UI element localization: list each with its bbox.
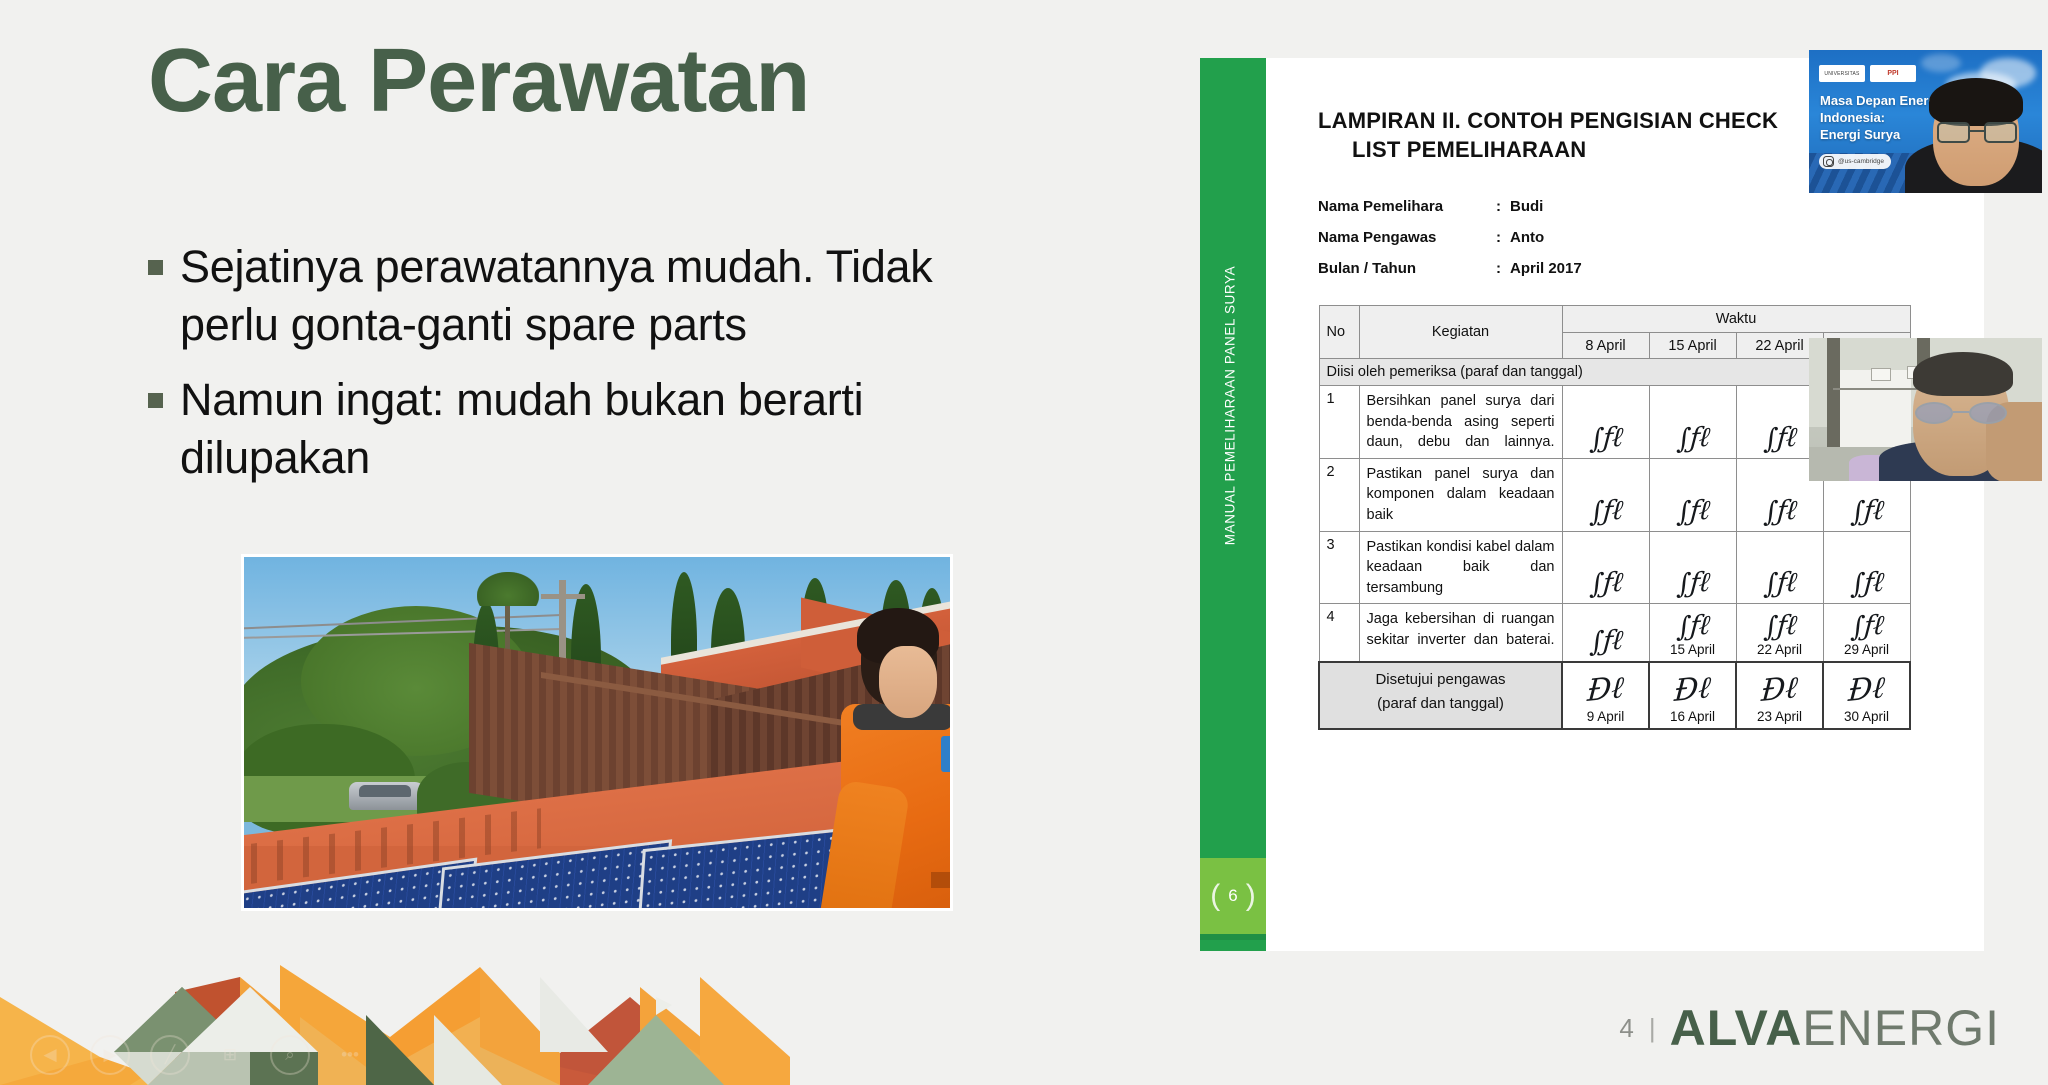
- webcam-background-title: Masa Depan Energi Indonesia: Energi Sury…: [1820, 92, 1940, 143]
- header-waktu: Waktu: [1562, 306, 1910, 333]
- webcam-tile-presenter-1[interactable]: UNIVERSITAS PPI Masa Depan Energi Indone…: [1809, 50, 2042, 193]
- signature-cell: ∫ƒℓ: [1649, 386, 1736, 459]
- solar-panel-cleaning-photo: [241, 554, 953, 911]
- approval-signature-cell: Đℓ 23 April: [1736, 662, 1823, 729]
- slide-title: Cara Perawatan: [148, 30, 809, 134]
- metadata-value: Anto: [1510, 229, 1544, 246]
- signature-mark: ∫ƒℓ: [1569, 422, 1643, 454]
- approval-date: 9 April: [1570, 709, 1641, 724]
- bg-title-line1: Masa Depan Energi: [1820, 92, 1940, 109]
- approval-date: 23 April: [1744, 709, 1815, 724]
- university-logo: UNIVERSITAS: [1819, 65, 1865, 82]
- table-header-row: No Kegiatan Waktu: [1319, 306, 1910, 333]
- row-no: 4: [1319, 604, 1359, 663]
- bracket-right: ): [1246, 879, 1256, 913]
- document-side-label: MANUAL PEMELIHARAAN PANEL SURYA: [1223, 226, 1238, 586]
- signature-mark: ∫ƒℓ: [1656, 568, 1730, 600]
- signature-mark: ∫ƒℓ: [1569, 495, 1643, 527]
- signature-mark: ∫ƒℓ: [1830, 611, 1904, 643]
- instagram-handle-text: @us-cambridge: [1838, 158, 1884, 165]
- glasses-lens-left: [1937, 122, 1970, 143]
- metadata-row: Nama Pengawas : Anto: [1318, 229, 1944, 246]
- document-page-badge: ( 6 ): [1200, 858, 1266, 934]
- all-slides-icon[interactable]: ⊞: [210, 1035, 250, 1075]
- approval-label-line2: (paraf dan tanggal): [1377, 695, 1504, 712]
- document-green-sidebar: MANUAL PEMELIHARAAN PANEL SURYA ( 6 ): [1200, 58, 1266, 951]
- row-kegiatan: Pastikan panel surya dan komponen dalam …: [1359, 458, 1562, 531]
- signature-date: 15 April: [1657, 642, 1729, 657]
- header-date-1: 8 April: [1562, 333, 1649, 359]
- approval-signature-mark: Đℓ: [1830, 668, 1903, 711]
- approval-signature-mark: Đℓ: [1569, 668, 1642, 711]
- brand-name-secondary: ENERGI: [1802, 1000, 2000, 1056]
- row-no: 2: [1319, 458, 1359, 531]
- previous-slide-icon[interactable]: ◀: [30, 1035, 70, 1075]
- approval-label-line1: Disetujui pengawas: [1375, 671, 1505, 688]
- signature-cell: ∫ƒℓ: [1649, 531, 1736, 604]
- approval-date: 30 April: [1831, 709, 1902, 724]
- bullet-square-icon: [148, 260, 163, 275]
- metadata-colon: :: [1496, 260, 1510, 277]
- signature-cell: ∫ƒℓ: [1823, 531, 1910, 604]
- metadata-label: Nama Pengawas: [1318, 229, 1496, 246]
- footer-decoration: ◀ ▶ ╱ ⊞ ⌕ •••: [0, 957, 1060, 1085]
- metadata-row: Nama Pemelihara : Budi: [1318, 198, 1944, 215]
- signature-cell: ∫ƒℓ 15 April: [1649, 604, 1736, 663]
- row-no: 1: [1319, 386, 1359, 459]
- footer-branding: 4 | ALVAENERGI: [1619, 999, 2000, 1057]
- signature-date: 22 April: [1744, 642, 1816, 657]
- metadata-label: Nama Pemelihara: [1318, 198, 1496, 215]
- header-date-2: 15 April: [1649, 333, 1736, 359]
- row-kegiatan: Pastikan kondisi kabel dalam keadaan bai…: [1359, 531, 1562, 604]
- brand-logo: ALVAENERGI: [1670, 999, 2000, 1057]
- ppi-logo: PPI: [1870, 65, 1916, 82]
- metadata-row: Bulan / Tahun : April 2017: [1318, 260, 1944, 277]
- table-row: 3 Pastikan kondisi kabel dalam keadaan b…: [1319, 531, 1910, 604]
- approval-signature-mark: Đℓ: [1656, 668, 1729, 711]
- approval-signature-mark: Đℓ: [1743, 668, 1816, 711]
- approval-label: Disetujui pengawas (paraf dan tanggal): [1319, 662, 1562, 729]
- document-page-number: 6: [1228, 886, 1237, 906]
- signature-cell: ∫ƒℓ: [1562, 604, 1649, 663]
- table-row: 4 Jaga kebersihan di ruangan sekitar inv…: [1319, 604, 1910, 663]
- logo-row: UNIVERSITAS PPI: [1819, 65, 1916, 82]
- bg-title-line3: Energi Surya: [1820, 126, 1940, 143]
- bullet-item: Namun ingat: mudah bukan berarti dilupak…: [148, 371, 938, 486]
- instagram-handle: @us-cambridge: [1819, 154, 1891, 169]
- next-slide-icon[interactable]: ▶: [90, 1035, 130, 1075]
- curtain-rail: [1833, 388, 1929, 390]
- metadata-colon: :: [1496, 229, 1510, 246]
- presenter-hair: [1929, 78, 2023, 126]
- more-options-icon[interactable]: •••: [330, 1035, 370, 1075]
- approval-signature-cell: Đℓ 16 April: [1649, 662, 1736, 729]
- bullet-item: Sejatinya perawatannya mudah. Tidak perl…: [148, 238, 938, 353]
- signature-mark: ∫ƒℓ: [1743, 568, 1817, 600]
- header-kegiatan: Kegiatan: [1359, 306, 1562, 359]
- presentation-slide: Cara Perawatan Sejatinya perawatannya mu…: [0, 0, 2048, 1085]
- signature-cell: ∫ƒℓ 29 April: [1823, 604, 1910, 663]
- cloud-decor: [1921, 54, 1961, 72]
- signature-cell: ∫ƒℓ 22 April: [1736, 604, 1823, 663]
- signature-cell: ∫ƒℓ: [1649, 458, 1736, 531]
- zoom-tool-icon[interactable]: ⌕: [270, 1035, 310, 1075]
- presenter-glasses: [1915, 402, 2007, 424]
- glasses-lens-left: [1915, 402, 1953, 424]
- signature-mark: ∫ƒℓ: [1743, 422, 1817, 454]
- signature-cell: ∫ƒℓ: [1562, 531, 1649, 604]
- document-metadata: Nama Pemelihara : Budi Nama Pengawas : A…: [1318, 198, 1944, 277]
- slideshow-controls[interactable]: ◀ ▶ ╱ ⊞ ⌕ •••: [30, 1035, 370, 1075]
- wall-vent: [1871, 368, 1891, 381]
- signature-mark: ∫ƒℓ: [1656, 495, 1730, 527]
- bullet-text: Namun ingat: mudah bukan berarti dilupak…: [180, 371, 938, 486]
- signature-mark: ∫ƒℓ: [1830, 568, 1904, 600]
- glasses-bridge: [1953, 411, 1969, 413]
- bg-title-line2: Indonesia:: [1820, 109, 1940, 126]
- pen-tool-icon[interactable]: ╱: [150, 1035, 190, 1075]
- bullet-list: Sejatinya perawatannya mudah. Tidak perl…: [148, 238, 938, 504]
- slide-page-number: 4: [1619, 1013, 1634, 1044]
- metadata-value: Budi: [1510, 198, 1543, 215]
- instagram-icon: [1823, 156, 1834, 167]
- bullet-square-icon: [148, 393, 163, 408]
- signature-cell: ∫ƒℓ: [1562, 386, 1649, 459]
- signature-mark: ∫ƒℓ: [1743, 495, 1817, 527]
- approval-row: Disetujui pengawas (paraf dan tanggal) Đ…: [1319, 662, 1910, 729]
- glasses-lens-right: [1969, 402, 2007, 424]
- signature-mark: ∫ƒℓ: [1830, 495, 1904, 527]
- metadata-colon: :: [1496, 198, 1510, 215]
- glasses-lens-right: [1984, 122, 2017, 143]
- metadata-value: April 2017: [1510, 260, 1582, 277]
- badge-underline: [1200, 934, 1266, 940]
- row-kegiatan: Jaga kebersihan di ruangan sekitar inver…: [1359, 604, 1562, 663]
- signature-mark: ∫ƒℓ: [1656, 611, 1730, 643]
- signature-mark: ∫ƒℓ: [1656, 422, 1730, 454]
- signature-cell: ∫ƒℓ: [1736, 531, 1823, 604]
- presenter-glasses: [1937, 122, 2017, 143]
- approval-signature-cell: Đℓ 30 April: [1823, 662, 1910, 729]
- signature-mark: ∫ƒℓ: [1569, 626, 1643, 658]
- brand-separator: |: [1649, 1013, 1656, 1044]
- webcam-tile-presenter-2[interactable]: [1809, 338, 2042, 481]
- signature-mark: ∫ƒℓ: [1569, 568, 1643, 600]
- approval-signature-cell: Đℓ 9 April: [1562, 662, 1649, 729]
- document-title-line1: LAMPIRAN II. CONTOH PENGISIAN CHECK: [1318, 108, 1778, 133]
- bracket-left: (: [1210, 879, 1220, 913]
- row-no: 3: [1319, 531, 1359, 604]
- signature-mark: ∫ƒℓ: [1743, 611, 1817, 643]
- metadata-label: Bulan / Tahun: [1318, 260, 1496, 277]
- glasses-bridge: [1970, 130, 1984, 132]
- signature-date: 29 April: [1831, 642, 1903, 657]
- brand-name-primary: ALVA: [1670, 1000, 1803, 1056]
- bullet-text: Sejatinya perawatannya mudah. Tidak perl…: [180, 238, 938, 353]
- approval-date: 16 April: [1657, 709, 1728, 724]
- header-no: No: [1319, 306, 1359, 359]
- presenter-hair: [1913, 352, 2013, 396]
- signature-cell: ∫ƒℓ: [1562, 458, 1649, 531]
